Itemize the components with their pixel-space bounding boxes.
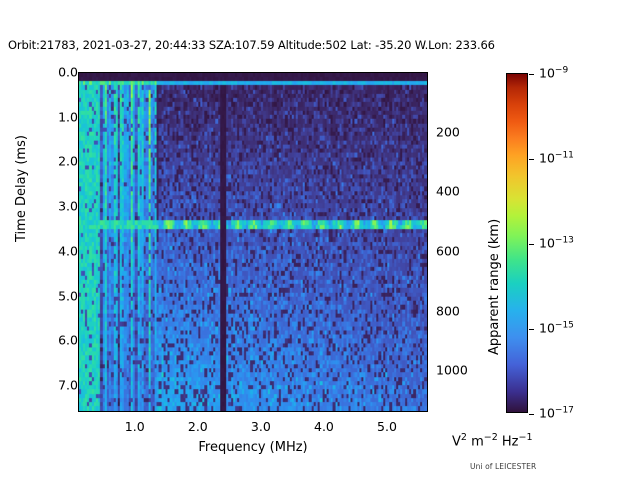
y-tick-major-right — [427, 312, 428, 313]
y-tick-minor — [78, 373, 79, 374]
y-tick-label-right: 800 — [436, 303, 460, 318]
y-tick-label-left: 0.0 — [58, 65, 78, 80]
x-tick-minor-top — [287, 72, 288, 73]
y-tick-minor — [78, 247, 79, 248]
x-tick-minor-top — [148, 72, 149, 73]
colorbar-tick — [529, 329, 534, 330]
y-tick-minor — [78, 382, 79, 383]
y-tick-minor — [78, 283, 79, 284]
x-tick-minor-top — [338, 72, 339, 73]
y-tick-minor-right — [427, 237, 428, 238]
y-tick-minor-right — [427, 222, 428, 223]
x-tick-minor — [193, 411, 194, 412]
y-tick-minor — [78, 82, 79, 83]
radargram-plot-area[interactable] — [78, 72, 428, 412]
x-tick-minor-top — [224, 72, 225, 73]
y-tick-minor — [78, 350, 79, 351]
y-tick-minor — [78, 212, 79, 213]
y-tick-minor — [78, 332, 79, 333]
colorbar-tick — [529, 159, 534, 160]
y-tick-minor — [78, 324, 79, 325]
x-tick-minor — [180, 411, 181, 412]
x-tick-minor — [167, 411, 168, 412]
y-tick-minor — [78, 140, 79, 141]
x-tick-label: 4.0 — [314, 419, 334, 434]
y-tick-minor — [78, 122, 79, 123]
x-tick-minor-top — [426, 72, 427, 73]
x-tick-minor-top — [401, 72, 402, 73]
y-tick-minor — [78, 359, 79, 360]
x-tick-minor — [363, 411, 364, 412]
y-tick-minor-right — [427, 341, 428, 342]
x-tick-minor — [98, 411, 99, 412]
y-tick-label-left: 3.0 — [58, 199, 78, 214]
x-tick-minor-top — [186, 72, 187, 73]
x-tick-minor — [148, 411, 149, 412]
x-tick-major — [199, 411, 200, 412]
x-tick-label: 5.0 — [377, 419, 397, 434]
y-tick-minor — [78, 149, 79, 150]
x-tick-minor-top — [193, 72, 194, 73]
y-tick-minor — [78, 274, 79, 275]
x-tick-minor — [230, 411, 231, 412]
x-tick-minor — [356, 411, 357, 412]
x-tick-minor — [174, 411, 175, 412]
y-tick-minor — [78, 176, 79, 177]
x-tick-minor — [413, 411, 414, 412]
x-tick-minor-top — [123, 72, 124, 73]
x-tick-minor-top — [167, 72, 168, 73]
y-tick-minor-right — [427, 297, 428, 298]
colorbar-tick-label: 10−13 — [539, 235, 574, 250]
x-tick-minor-top — [79, 72, 80, 73]
y-tick-minor — [78, 377, 79, 378]
x-tick-minor — [79, 411, 80, 412]
y-tick-minor-right — [427, 88, 428, 89]
y-tick-label-right: 200 — [436, 124, 460, 139]
y-tick-minor — [78, 203, 79, 204]
y-tick-major — [78, 207, 79, 208]
y-tick-minor-right — [427, 118, 428, 119]
y-tick-minor-right — [427, 267, 428, 268]
x-tick-minor — [85, 411, 86, 412]
x-tick-minor-top — [420, 72, 421, 73]
y-tick-minor — [78, 185, 79, 186]
x-tick-minor — [256, 411, 257, 412]
x-tick-minor — [300, 411, 301, 412]
x-tick-minor — [92, 411, 93, 412]
x-tick-minor — [155, 411, 156, 412]
y-tick-minor — [78, 261, 79, 262]
x-tick-major-top — [136, 72, 137, 73]
y-tick-minor — [78, 136, 79, 137]
x-tick-minor-top — [293, 72, 294, 73]
x-tick-minor-top — [142, 72, 143, 73]
x-tick-minor — [111, 411, 112, 412]
y-tick-minor — [78, 158, 79, 159]
x-tick-major-top — [325, 72, 326, 73]
y-tick-major-right — [427, 133, 428, 134]
x-tick-minor-top — [369, 72, 370, 73]
y-tick-major-right — [427, 252, 428, 253]
x-tick-minor-top — [243, 72, 244, 73]
x-tick-minor — [161, 411, 162, 412]
x-tick-minor — [224, 411, 225, 412]
x-tick-minor-top — [92, 72, 93, 73]
x-tick-minor-top — [237, 72, 238, 73]
y-tick-minor — [78, 337, 79, 338]
x-tick-minor-top — [382, 72, 383, 73]
y-tick-minor — [78, 270, 79, 271]
x-tick-minor-top — [205, 72, 206, 73]
y-tick-label-left: 1.0 — [58, 109, 78, 124]
x-tick-minor — [293, 411, 294, 412]
y-tick-minor-right — [427, 207, 428, 208]
x-tick-minor-top — [363, 72, 364, 73]
y-tick-minor — [78, 194, 79, 195]
y-tick-minor — [78, 395, 79, 396]
y-tick-minor-right — [427, 177, 428, 178]
colorbar-tick — [529, 244, 534, 245]
x-tick-minor — [426, 411, 427, 412]
x-tick-minor-top — [161, 72, 162, 73]
x-tick-major — [388, 411, 389, 412]
x-tick-minor — [338, 411, 339, 412]
y-tick-label-left: 7.0 — [58, 378, 78, 393]
y-tick-minor — [78, 400, 79, 401]
x-tick-minor-top — [230, 72, 231, 73]
y-axis-label-right: Apparent range (km) — [487, 219, 502, 355]
x-tick-minor-top — [413, 72, 414, 73]
x-tick-minor-top — [211, 72, 212, 73]
x-tick-minor-top — [180, 72, 181, 73]
x-tick-minor — [420, 411, 421, 412]
y-tick-major — [78, 341, 79, 342]
y-tick-minor — [78, 319, 79, 320]
y-tick-minor — [78, 189, 79, 190]
x-tick-major — [136, 411, 137, 412]
y-tick-minor — [78, 265, 79, 266]
x-tick-minor-top — [256, 72, 257, 73]
colorbar — [506, 73, 528, 413]
y-tick-minor — [78, 256, 79, 257]
x-tick-major — [262, 411, 263, 412]
y-tick-minor-right — [427, 327, 428, 328]
y-tick-major-right — [427, 371, 428, 372]
x-tick-minor-top — [407, 72, 408, 73]
figure-footer: Uni of LEICESTER — [470, 462, 536, 471]
y-tick-minor — [78, 315, 79, 316]
y-tick-minor — [78, 109, 79, 110]
y-tick-minor — [78, 127, 79, 128]
x-tick-minor — [306, 411, 307, 412]
colorbar-tick — [529, 414, 534, 415]
x-tick-minor — [401, 411, 402, 412]
y-tick-minor — [78, 404, 79, 405]
y-tick-minor-right — [427, 401, 428, 402]
x-tick-minor-top — [356, 72, 357, 73]
x-tick-minor — [142, 411, 143, 412]
x-tick-minor-top — [104, 72, 105, 73]
y-tick-label-left: 2.0 — [58, 154, 78, 169]
y-tick-minor — [78, 364, 79, 365]
x-tick-minor — [331, 411, 332, 412]
x-tick-minor-top — [319, 72, 320, 73]
x-tick-minor — [211, 411, 212, 412]
y-tick-minor — [78, 230, 79, 231]
y-tick-minor — [78, 198, 79, 199]
plot-title: Orbit:21783, 2021-03-27, 20:44:33 SZA:10… — [8, 38, 632, 52]
y-tick-minor — [78, 154, 79, 155]
y-tick-minor — [78, 216, 79, 217]
x-tick-minor-top — [218, 72, 219, 73]
x-tick-minor — [287, 411, 288, 412]
y-tick-label-right: 600 — [436, 243, 460, 258]
x-tick-minor — [350, 411, 351, 412]
x-tick-major-top — [388, 72, 389, 73]
colorbar-tick-label: 10−15 — [539, 320, 574, 335]
x-tick-minor-top — [129, 72, 130, 73]
x-tick-minor-top — [312, 72, 313, 73]
colorbar-tick-label: 10−17 — [539, 405, 574, 420]
y-tick-minor — [78, 180, 79, 181]
x-tick-minor — [186, 411, 187, 412]
x-tick-minor-top — [274, 72, 275, 73]
y-tick-minor — [78, 171, 79, 172]
radargram-figure: Orbit:21783, 2021-03-27, 20:44:33 SZA:10… — [0, 0, 640, 480]
x-tick-minor-top — [300, 72, 301, 73]
x-tick-minor-top — [375, 72, 376, 73]
y-tick-minor — [78, 368, 79, 369]
heatmap-canvas — [79, 73, 427, 411]
y-tick-minor-right — [427, 386, 428, 387]
x-tick-minor — [274, 411, 275, 412]
y-tick-minor — [78, 221, 79, 222]
y-tick-minor — [78, 328, 79, 329]
y-tick-label-left: 5.0 — [58, 288, 78, 303]
y-tick-minor — [78, 77, 79, 78]
colorbar-tick — [529, 74, 534, 75]
x-tick-major-top — [199, 72, 200, 73]
y-axis-label-left: Time Delay (ms) — [14, 135, 29, 242]
x-tick-minor-top — [394, 72, 395, 73]
x-tick-minor-top — [268, 72, 269, 73]
x-tick-minor — [218, 411, 219, 412]
x-tick-label: 1.0 — [125, 419, 145, 434]
y-tick-minor — [78, 104, 79, 105]
y-tick-minor-right — [427, 103, 428, 104]
x-tick-minor-top — [98, 72, 99, 73]
x-tick-minor-top — [281, 72, 282, 73]
x-tick-minor — [375, 411, 376, 412]
y-tick-minor-right — [427, 162, 428, 163]
x-tick-minor — [312, 411, 313, 412]
x-tick-label: 3.0 — [251, 419, 271, 434]
x-tick-minor — [268, 411, 269, 412]
y-tick-minor — [78, 409, 79, 410]
x-tick-minor-top — [85, 72, 86, 73]
y-tick-minor — [78, 239, 79, 240]
y-tick-minor — [78, 391, 79, 392]
y-tick-minor — [78, 100, 79, 101]
x-tick-minor — [123, 411, 124, 412]
y-tick-label-right: 400 — [436, 184, 460, 199]
x-tick-minor — [117, 411, 118, 412]
x-tick-label: 2.0 — [188, 419, 208, 434]
x-tick-minor-top — [306, 72, 307, 73]
x-tick-minor — [407, 411, 408, 412]
x-tick-major — [325, 411, 326, 412]
x-tick-minor-top — [344, 72, 345, 73]
y-tick-major — [78, 386, 79, 387]
y-tick-minor — [78, 306, 79, 307]
y-tick-major — [78, 252, 79, 253]
y-tick-minor-right — [427, 356, 428, 357]
x-tick-major-top — [262, 72, 263, 73]
y-tick-minor — [78, 91, 79, 92]
y-tick-major — [78, 118, 79, 119]
x-tick-minor-top — [111, 72, 112, 73]
y-tick-major-right — [427, 192, 428, 193]
x-axis-label: Frequency (MHz) — [78, 440, 428, 455]
y-tick-label-left: 6.0 — [58, 333, 78, 348]
y-tick-minor — [78, 86, 79, 87]
y-tick-major — [78, 73, 79, 74]
colorbar-tick-label: 10−11 — [539, 150, 574, 165]
x-tick-minor-top — [117, 72, 118, 73]
y-tick-minor — [78, 167, 79, 168]
x-tick-minor — [344, 411, 345, 412]
x-tick-minor-top — [331, 72, 332, 73]
y-tick-major — [78, 297, 79, 298]
y-tick-minor-right — [427, 148, 428, 149]
y-tick-major — [78, 162, 79, 163]
x-tick-minor — [369, 411, 370, 412]
x-tick-minor-top — [174, 72, 175, 73]
y-tick-minor — [78, 292, 79, 293]
y-tick-minor — [78, 225, 79, 226]
x-tick-minor — [104, 411, 105, 412]
x-tick-minor — [382, 411, 383, 412]
y-tick-label-right: 1000 — [436, 363, 468, 378]
x-tick-minor-top — [350, 72, 351, 73]
y-tick-minor — [78, 279, 79, 280]
y-tick-minor — [78, 355, 79, 356]
colorbar-tick-label: 10−9 — [539, 65, 568, 80]
x-tick-minor — [319, 411, 320, 412]
y-tick-minor-right — [427, 282, 428, 283]
x-tick-minor-top — [249, 72, 250, 73]
x-tick-minor — [394, 411, 395, 412]
x-tick-minor — [205, 411, 206, 412]
y-tick-minor — [78, 346, 79, 347]
y-tick-minor — [78, 301, 79, 302]
y-tick-minor — [78, 131, 79, 132]
x-tick-minor-top — [155, 72, 156, 73]
x-tick-minor — [237, 411, 238, 412]
x-tick-minor — [243, 411, 244, 412]
y-tick-minor — [78, 95, 79, 96]
y-tick-minor — [78, 113, 79, 114]
y-tick-minor — [78, 288, 79, 289]
colorbar-units: V2 m−2 Hz−1 — [452, 432, 533, 449]
y-tick-label-left: 4.0 — [58, 243, 78, 258]
y-tick-minor — [78, 145, 79, 146]
y-tick-minor — [78, 310, 79, 311]
y-tick-minor — [78, 234, 79, 235]
y-tick-minor — [78, 243, 79, 244]
x-tick-minor — [249, 411, 250, 412]
x-tick-minor — [129, 411, 130, 412]
x-tick-minor — [281, 411, 282, 412]
